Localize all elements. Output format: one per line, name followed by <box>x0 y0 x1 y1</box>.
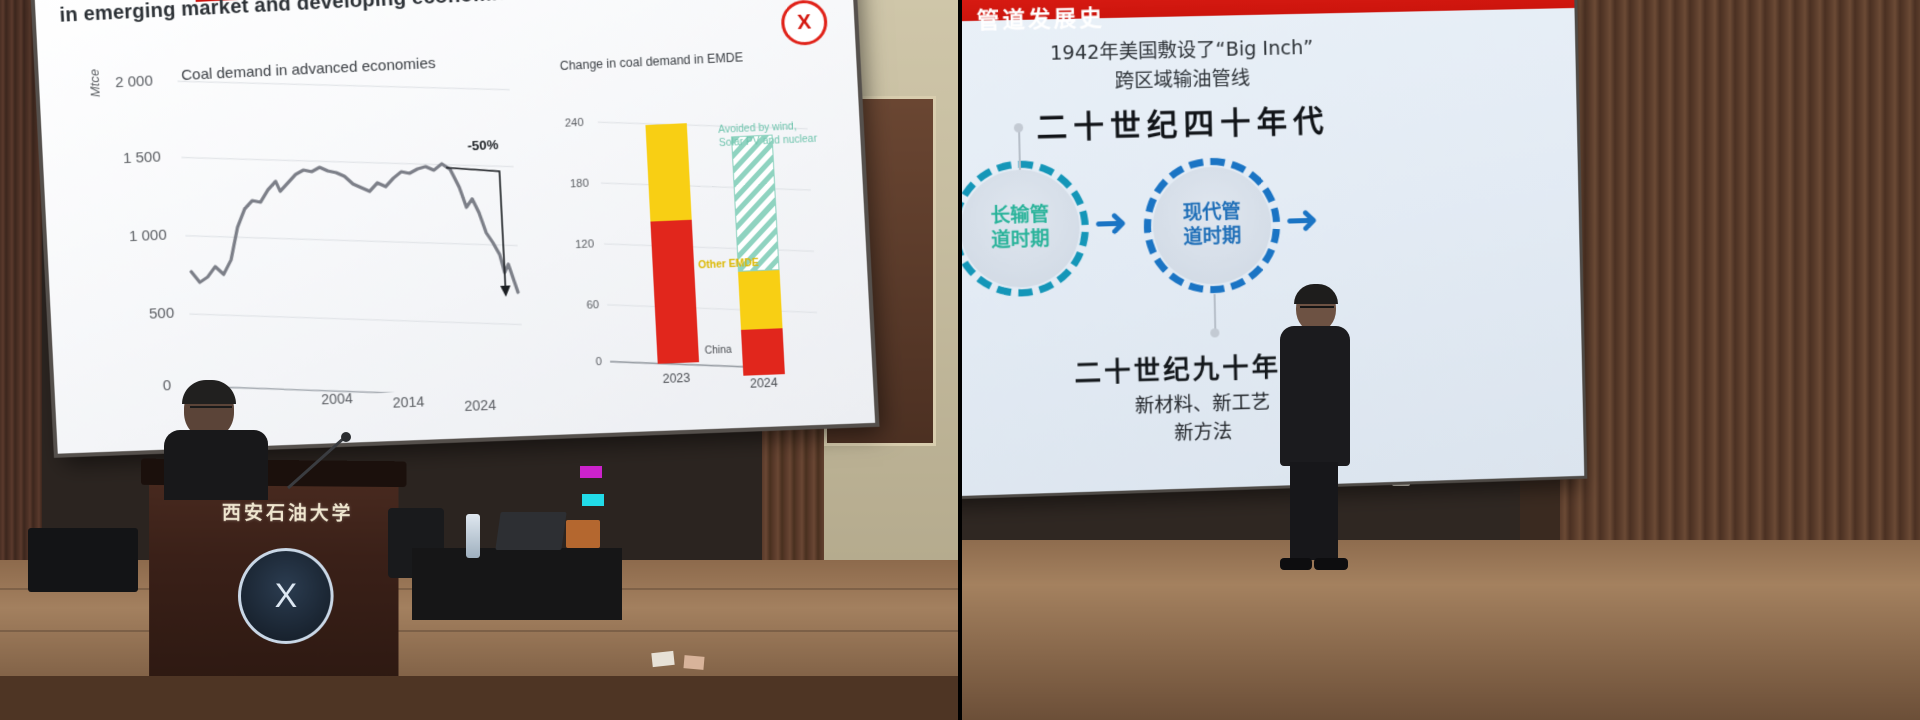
slide-headline-right: 1942年美国敷设了“Big Inch” 跨区域输油管线 <box>967 32 1396 99</box>
panel-divider <box>958 0 962 720</box>
monitor-box-left <box>28 528 138 592</box>
line-chart-annotation: -50% <box>467 137 499 154</box>
bar-label-avoided: Avoided by wind, Solar PV and nuclear <box>718 120 819 150</box>
bar-2023-china <box>650 220 699 364</box>
microphone-stand <box>282 432 362 492</box>
bar-label-china: China <box>704 345 732 359</box>
node-label-3: 现代管 道时期 <box>1183 201 1242 250</box>
lectern-university-name: 西安石油大学 <box>222 498 353 526</box>
bar-chart: Change in coal demand in EMDE 240 180 12… <box>544 58 849 376</box>
presenter-left <box>160 382 268 492</box>
x-tick-2004: 2004 <box>321 390 353 407</box>
pointer-swatch-magenta-2 <box>580 466 602 478</box>
university-seal-icon: X <box>238 548 334 644</box>
bar-2024-china <box>741 328 785 376</box>
stage-front-edge <box>0 676 960 720</box>
bar-2023-other-emde <box>645 123 691 221</box>
arrow-icon-2: ➜ <box>1094 211 1152 239</box>
laptop <box>495 512 566 550</box>
timeline-node-modern-pipe[interactable]: 现代管 道时期 <box>1152 166 1272 286</box>
bar-2024-avoided <box>731 135 780 272</box>
line-chart: Mtce Coal demand in advanced economies 2… <box>85 53 527 404</box>
bar-cat-2024: 2024 <box>750 375 778 390</box>
x-tick-2024: 2024 <box>464 397 497 414</box>
caption-left-body: 5年美国 接天然气管道 <box>960 395 998 458</box>
floor-paper-1 <box>651 651 674 667</box>
screenshot-stage: 发展现状 X Coal demand in advanced economies… <box>0 0 1920 720</box>
presenter-right <box>1278 286 1350 576</box>
table-decor-box <box>566 520 600 548</box>
floor-paper-2 <box>683 655 704 670</box>
glasses-icon <box>190 406 232 413</box>
arrow-icon-3: ➜ <box>1285 208 1342 236</box>
node-label-2: 长输管 道时期 <box>990 204 1049 254</box>
stage-floor-right <box>960 540 1920 720</box>
left-photo-panel: 发展现状 X Coal demand in advanced economies… <box>0 0 960 720</box>
water-bottle <box>466 514 480 558</box>
pointer-swatch-cyan <box>582 494 604 506</box>
bar-2024-other-emde <box>738 270 783 330</box>
caption-right-title: 二十世纪九十年代 <box>1074 346 1311 390</box>
right-photo-panel: 管道发展史 道 1942年美国敷设了“Big Inch” 跨区域输油管线 二十世… <box>960 0 1920 720</box>
bar-label-other-emde: Other EMDE <box>698 258 759 273</box>
presenter-table <box>412 548 622 620</box>
timeline-node-long-distance-pipe[interactable]: 长输管 道时期 <box>960 168 1081 289</box>
bar-cat-2023: 2023 <box>662 371 690 386</box>
slide-banner-text-right: 管道发展史 <box>976 0 1105 35</box>
x-tick-2014: 2014 <box>392 393 425 410</box>
wood-wall-slats-right <box>1560 0 1920 560</box>
projection-screen-right: 管道发展史 道 1942年美国敷设了“Big Inch” 跨区域输油管线 二十世… <box>960 0 1584 502</box>
glasses-icon-right <box>1300 306 1334 312</box>
line-chart-svg <box>85 53 527 404</box>
